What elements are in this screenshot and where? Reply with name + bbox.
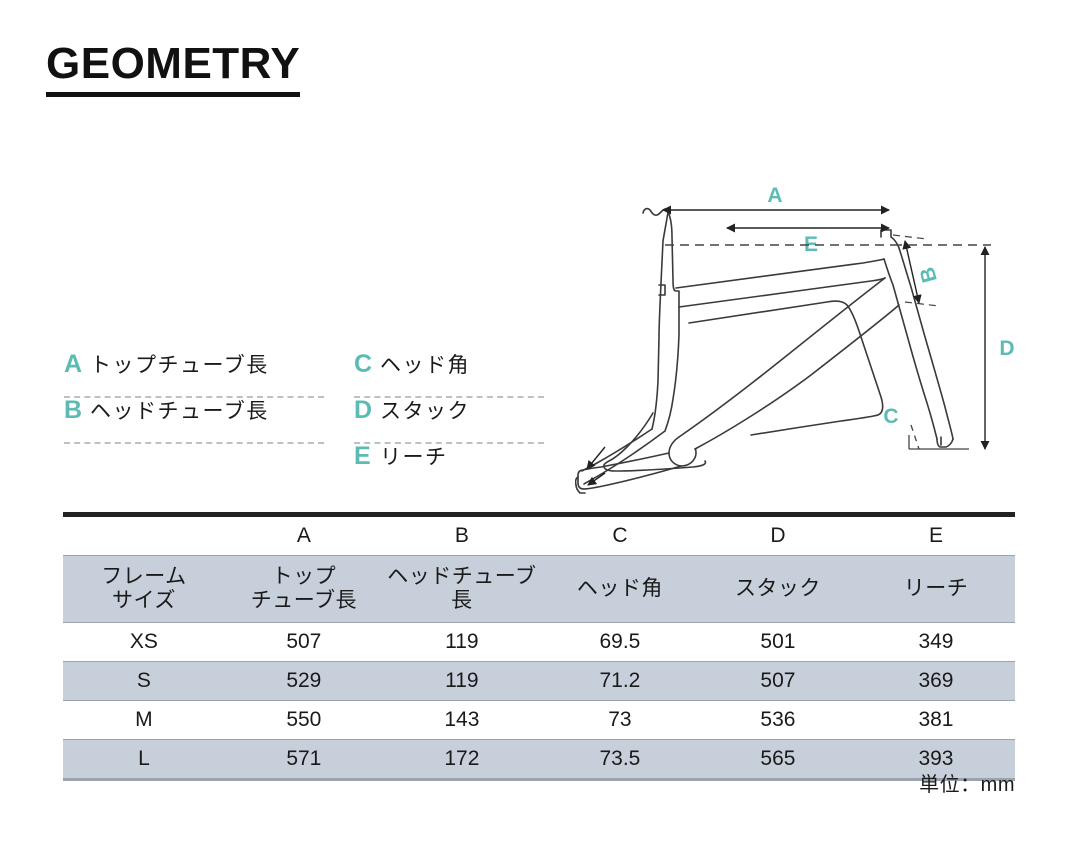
table-header-row: フレーム サイズ トップ チューブ長 ヘッドチューブ長 ヘッド角 スタック リー… bbox=[63, 556, 1015, 623]
cell-reach: 369 bbox=[857, 662, 1015, 701]
extension-line-b-bottom bbox=[905, 302, 939, 306]
letter-cell-blank bbox=[63, 515, 225, 556]
letter-cell-c: C bbox=[541, 515, 699, 556]
legend-key-b: B bbox=[64, 398, 90, 423]
cell-stack: 536 bbox=[699, 701, 857, 740]
header-line-1: フレーム bbox=[63, 565, 225, 589]
dimension-d-label: D bbox=[999, 337, 1014, 360]
cell-head-angle: 73 bbox=[541, 701, 699, 740]
legend-item-b: B ヘッドチューブ長 bbox=[64, 398, 324, 444]
cell-reach: 381 bbox=[857, 701, 1015, 740]
bicycle-frame-diagram: A E B D C bbox=[575, 185, 1030, 495]
legend-label-e: リーチ bbox=[380, 447, 448, 468]
cell-head-tube-length: 119 bbox=[383, 662, 541, 701]
cell-head-angle: 69.5 bbox=[541, 623, 699, 662]
angle-arc-c bbox=[911, 425, 919, 449]
legend-key-c: C bbox=[354, 352, 380, 377]
legend-key-d: D bbox=[354, 398, 380, 423]
legend-column-left: A トップチューブ長 B ヘッドチューブ長 bbox=[64, 352, 324, 444]
table-letters-row: A B C D E bbox=[63, 515, 1015, 556]
legend-item-d: D スタック bbox=[354, 398, 544, 444]
cell-head-tube-length: 119 bbox=[383, 623, 541, 662]
column-header-head-tube-length: ヘッドチューブ長 bbox=[383, 556, 541, 623]
column-header-reach: リーチ bbox=[857, 556, 1015, 623]
column-header-head-angle: ヘッド角 bbox=[541, 556, 699, 623]
legend-label-d: スタック bbox=[380, 401, 470, 422]
frame-outline bbox=[576, 209, 953, 493]
letter-cell-d: D bbox=[699, 515, 857, 556]
unit-note: 単位：mm bbox=[63, 768, 1015, 797]
legend-key-a: A bbox=[64, 352, 90, 377]
cell-size: M bbox=[63, 701, 225, 740]
page-title: GEOMETRY bbox=[46, 42, 300, 97]
header-line-2: チューブ長 bbox=[225, 589, 383, 613]
dimension-c-label: C bbox=[883, 405, 898, 428]
cell-stack: 501 bbox=[699, 623, 857, 662]
cell-size: XS bbox=[63, 623, 225, 662]
column-header-frame-size: フレーム サイズ bbox=[63, 556, 225, 623]
dimension-b-label: B bbox=[916, 264, 942, 285]
letter-cell-e: E bbox=[857, 515, 1015, 556]
column-header-stack: スタック bbox=[699, 556, 857, 623]
cell-top-tube-length: 550 bbox=[225, 701, 383, 740]
legend-label-a: トップチューブ長 bbox=[90, 355, 269, 376]
cell-reach: 349 bbox=[857, 623, 1015, 662]
cell-top-tube-length: 507 bbox=[225, 623, 383, 662]
header-line-1: トップ bbox=[225, 565, 383, 589]
cell-top-tube-length: 529 bbox=[225, 662, 383, 701]
legend-item-a: A トップチューブ長 bbox=[64, 352, 324, 398]
legend-label-c: ヘッド角 bbox=[380, 355, 470, 376]
extension-line-b-top bbox=[893, 235, 927, 239]
cell-size: S bbox=[63, 662, 225, 701]
header-line-2: サイズ bbox=[63, 589, 225, 613]
dimension-a-label: A bbox=[767, 185, 782, 207]
column-header-top-tube-length: トップ チューブ長 bbox=[225, 556, 383, 623]
legend-item-c: C ヘッド角 bbox=[354, 352, 544, 398]
cell-stack: 507 bbox=[699, 662, 857, 701]
legend-key-e: E bbox=[354, 444, 380, 469]
legend-label-b: ヘッドチューブ長 bbox=[90, 401, 269, 422]
geometry-table: A B C D E フレーム サイズ トップ チューブ長 ヘッドチューブ長 ヘッ… bbox=[63, 512, 1015, 781]
table-row: S 529 119 71.2 507 369 bbox=[63, 662, 1015, 701]
cell-head-tube-length: 143 bbox=[383, 701, 541, 740]
legend-column-right: C ヘッド角 D スタック E リーチ bbox=[354, 352, 544, 490]
table-row: M 550 143 73 536 381 bbox=[63, 701, 1015, 740]
letter-cell-a: A bbox=[225, 515, 383, 556]
table-row: XS 507 119 69.5 501 349 bbox=[63, 623, 1015, 662]
letter-cell-b: B bbox=[383, 515, 541, 556]
legend-item-e: E リーチ bbox=[354, 444, 544, 490]
cell-head-angle: 71.2 bbox=[541, 662, 699, 701]
